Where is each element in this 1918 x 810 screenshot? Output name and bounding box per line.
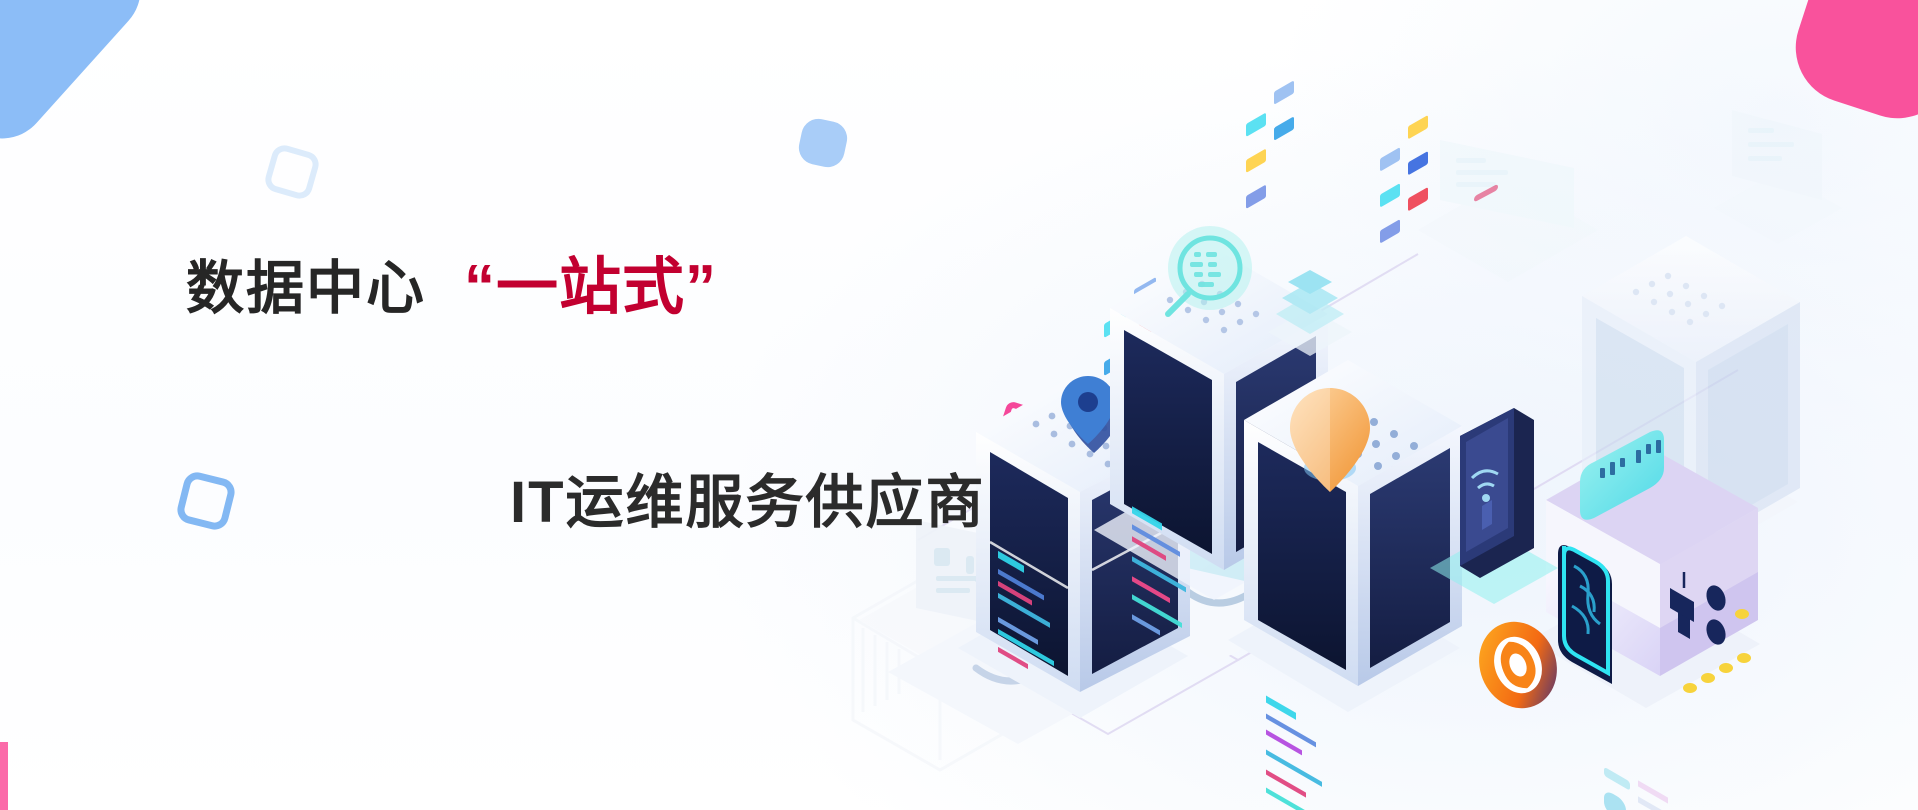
hero-banner: 数据中心 “一站式” IT运维服务供应商 (0, 0, 1918, 810)
headline-line-1: 数据中心 “一站式” (186, 236, 717, 326)
headline-dark-text: 数据中心 (186, 241, 426, 325)
headline-accent-text: “一站式” (464, 236, 717, 326)
headline-block: 数据中心 “一站式” (186, 236, 717, 326)
headline-line-2: IT运维服务供应商 (510, 455, 986, 539)
isometric-data-center-illustration (858, 0, 1918, 810)
faint-tablet-right (1714, 110, 1842, 244)
faint-screen-top (1418, 140, 1598, 282)
pink-edge-bar (0, 742, 8, 810)
